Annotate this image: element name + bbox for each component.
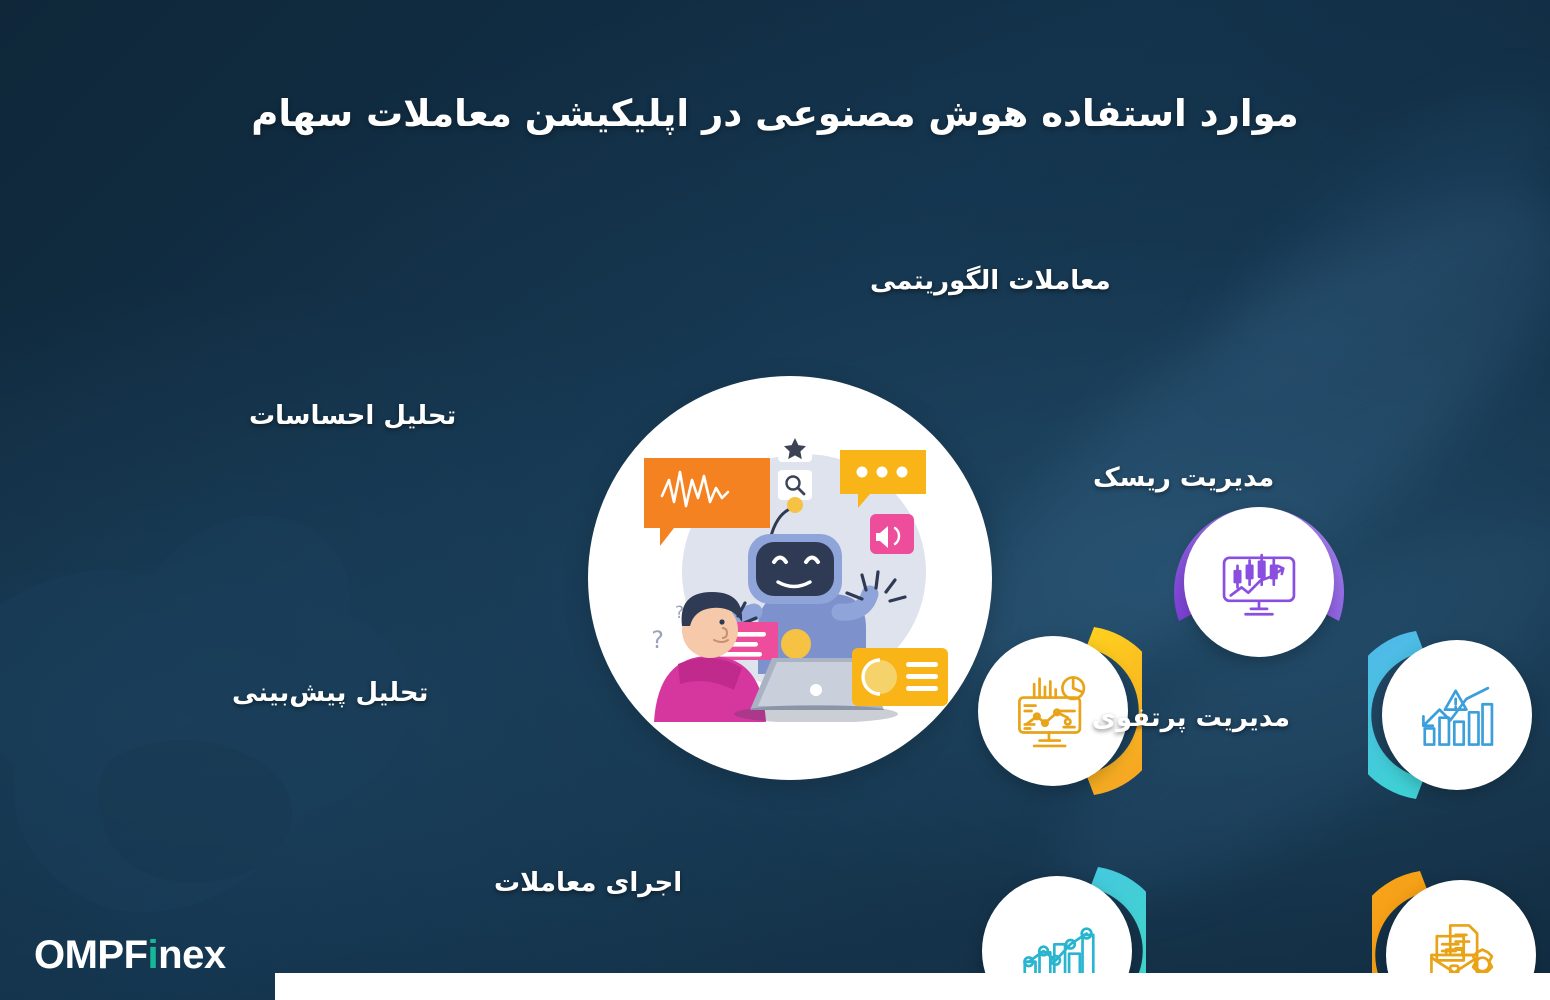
candlestick-monitor-icon <box>1216 539 1302 625</box>
ompfinex-logo: OMPFinex <box>34 933 226 978</box>
ai-use-case-wheel: ? ? <box>470 240 1110 920</box>
label-risk-management: مدیریت ریسک <box>1093 461 1274 496</box>
bar-chart-warning-icon <box>1414 672 1500 758</box>
node-disc <box>1382 640 1532 790</box>
svg-text:?: ? <box>651 626 664 654</box>
label-trade-execution: اجرای معاملات <box>494 866 682 901</box>
logo-text-tail: nex <box>158 933 225 977</box>
dashboard-analytics-monitor-icon <box>1010 668 1096 754</box>
node-disc <box>1184 507 1334 657</box>
ai-chatbot-illustration: ? ? <box>618 422 962 722</box>
label-predictive-analysis: تحلیل پیش‌بینی <box>232 676 428 711</box>
page-title: موارد استفاده هوش مصنوعی در اپلیکیشن معا… <box>0 88 1550 141</box>
label-algorithmic-trading: معاملات الگوریتمی <box>870 264 1111 299</box>
node-algorithmic-trading[interactable] <box>1170 493 1348 671</box>
node-risk-management[interactable] <box>1368 626 1546 804</box>
label-portfolio-management: مدیریت پرتفوی <box>1092 701 1290 736</box>
logo-text-accent: i <box>148 933 159 977</box>
footer-white-bar <box>275 973 1550 1000</box>
label-sentiment-analysis: تحلیل احساسات <box>249 399 456 434</box>
infographic-canvas: موارد استفاده هوش مصنوعی در اپلیکیشن معا… <box>0 0 1550 1000</box>
logo-text-main: OMPF <box>34 933 148 977</box>
